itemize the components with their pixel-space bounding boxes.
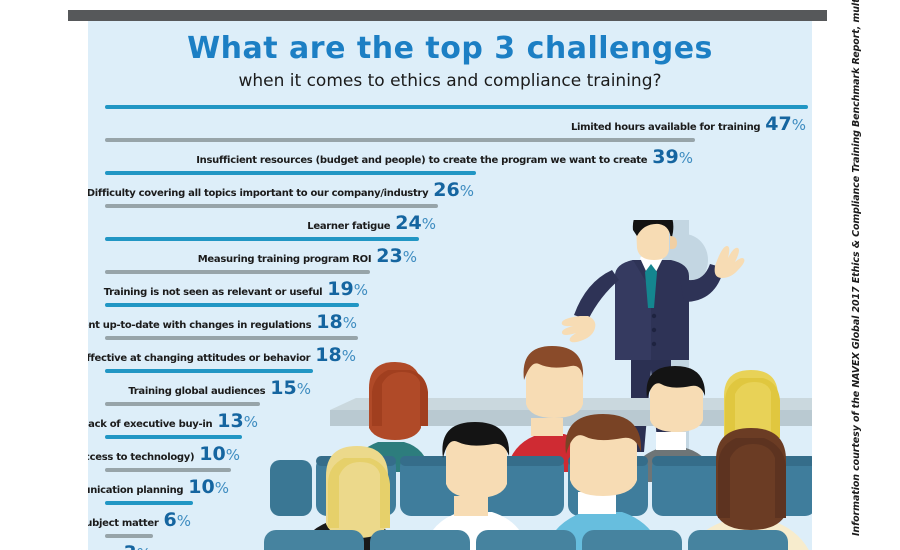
- chart-row-label: Measuring training program ROI: [198, 254, 372, 265]
- chart-row: Training global audiences15%: [88, 369, 812, 402]
- chart-row-text: Learner mastery of subject matter6%: [88, 510, 191, 534]
- chart-row-label: Learner fatigue: [307, 221, 390, 232]
- chart-row-label: Education and communication planning: [88, 485, 183, 496]
- chart-row-label: Training learners offline (with limited …: [88, 452, 194, 463]
- chart-row-value: 3: [124, 542, 137, 550]
- bar-1: [105, 105, 808, 109]
- chart-row: Training is not seen as effective at cha…: [88, 336, 812, 369]
- chart-row-value: 39: [652, 146, 678, 168]
- bar-8: [105, 336, 358, 340]
- chart-row: Difficulty covering all topics important…: [88, 171, 812, 204]
- page-subtitle: when it comes to ethics and compliance t…: [88, 71, 812, 91]
- chart-row-percent-sign: %: [460, 182, 474, 200]
- source-credit-text: Information courtesy of the NAVEX Global…: [851, 0, 862, 536]
- chart-row-percent-sign: %: [343, 314, 357, 332]
- source-credit: Information courtesy of the NAVEX Global…: [812, 21, 900, 550]
- chart-row-percent-sign: %: [342, 347, 356, 365]
- chart-row: Limited hours available for training47%: [88, 105, 812, 138]
- chart-row-label: Limited hours available for training: [571, 122, 760, 133]
- chart-row-percent-sign: %: [177, 512, 191, 530]
- chart-row: Training learners offline (with limited …: [88, 435, 812, 468]
- bar-10: [105, 402, 260, 406]
- chart-row: Measuring training program ROI23%: [88, 237, 812, 270]
- bar-11: [105, 435, 242, 439]
- chart-row-percent-sign: %: [226, 446, 240, 464]
- chart-row-label: Training is not seen as effective at cha…: [88, 353, 310, 364]
- chart-row: Learner mastery of subject matter6%: [88, 501, 812, 534]
- chart-row-value: 18: [316, 311, 342, 333]
- infographic-canvas: What are the top 3 challenges when it co…: [0, 0, 900, 550]
- chart-row-value: 6: [164, 509, 177, 531]
- chart-row-value: 13: [217, 410, 243, 432]
- chart-row-text: Limited hours available for training47%: [571, 114, 806, 138]
- chart-row-text: Training learners offline (with limited …: [88, 444, 240, 468]
- chart-row-value: 23: [376, 245, 402, 267]
- bar-5: [105, 237, 419, 241]
- challenges-bar-chart: Limited hours available for training47%I…: [88, 105, 812, 550]
- chart-row-label: Difficulty covering all topics important…: [88, 188, 428, 199]
- chart-row-percent-sign: %: [244, 413, 258, 431]
- chart-row-value: 10: [199, 443, 225, 465]
- chart-row-value: 18: [315, 344, 341, 366]
- chart-row: Training is not seen as relevant or usef…: [88, 270, 812, 303]
- chart-row-text: Measuring training program ROI23%: [198, 246, 417, 270]
- chart-row: Other3%: [88, 534, 812, 550]
- infographic-panel: What are the top 3 challenges when it co…: [88, 21, 812, 550]
- chart-row: A lack of executive buy-in13%: [88, 402, 812, 435]
- chart-row-percent-sign: %: [297, 380, 311, 398]
- bar-13: [105, 501, 193, 505]
- chart-row-label: Learner mastery of subject matter: [88, 518, 159, 529]
- chart-row-text: Learner fatigue24%: [307, 213, 436, 237]
- bar-14: [105, 534, 153, 538]
- bar-4: [105, 204, 438, 208]
- chart-row-percent-sign: %: [354, 281, 368, 299]
- chart-row-label: A lack of executive buy-in: [88, 419, 212, 430]
- chart-row: Keeping content up-to-date with changes …: [88, 303, 812, 336]
- chart-row-label: Training is not seen as relevant or usef…: [104, 287, 323, 298]
- bar-3: [105, 171, 476, 175]
- bar-12: [105, 468, 231, 472]
- chart-row-text: Training is not seen as relevant or usef…: [104, 279, 368, 303]
- chart-row-percent-sign: %: [679, 149, 693, 167]
- chart-row-label: Keeping content up-to-date with changes …: [88, 320, 311, 331]
- chart-row-value: 26: [433, 179, 459, 201]
- chart-row-label: Training global audiences: [128, 386, 265, 397]
- bar-2: [105, 138, 695, 142]
- chart-row-text: A lack of executive buy-in13%: [88, 411, 258, 435]
- chart-row-value: 47: [765, 113, 791, 135]
- chart-row-text: Training is not seen as effective at cha…: [88, 345, 356, 369]
- chart-row-percent-sign: %: [137, 545, 151, 550]
- chart-row-percent-sign: %: [403, 248, 417, 266]
- chart-row-text: Training global audiences15%: [128, 378, 311, 402]
- chart-row-value: 24: [395, 212, 421, 234]
- chart-row-label: Insufficient resources (budget and peopl…: [196, 155, 647, 166]
- chart-row-percent-sign: %: [215, 479, 229, 497]
- chart-row-value: 10: [188, 476, 214, 498]
- bar-7: [105, 303, 359, 307]
- chart-row-text: Difficulty covering all topics important…: [88, 180, 474, 204]
- top-rule-divider: [68, 10, 827, 21]
- chart-row-text: Keeping content up-to-date with changes …: [88, 312, 357, 336]
- chart-row-percent-sign: %: [422, 215, 436, 233]
- chart-row-text: Insufficient resources (budget and peopl…: [196, 147, 693, 171]
- chart-row: Insufficient resources (budget and peopl…: [88, 138, 812, 171]
- chart-row-text: Other3%: [88, 543, 151, 550]
- chart-row-value: 15: [270, 377, 296, 399]
- chart-row-text: Education and communication planning10%: [88, 477, 229, 501]
- chart-row: Education and communication planning10%: [88, 468, 812, 501]
- chart-row-percent-sign: %: [792, 116, 806, 134]
- bar-9: [105, 369, 313, 373]
- bar-6: [105, 270, 370, 274]
- page-title: What are the top 3 challenges: [88, 31, 812, 66]
- chart-row-value: 19: [327, 278, 353, 300]
- chart-row: Learner fatigue24%: [88, 204, 812, 237]
